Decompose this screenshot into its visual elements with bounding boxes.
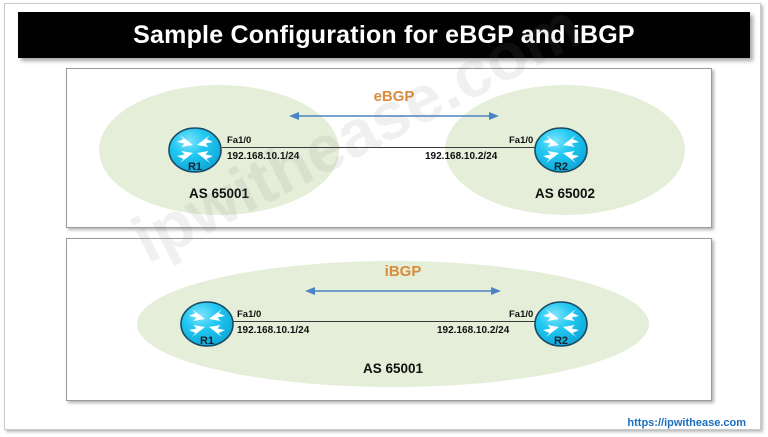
interface-label-right-ebgp: Fa1/0 bbox=[509, 135, 533, 146]
interface-label-right-ibgp: Fa1/0 bbox=[509, 309, 533, 320]
ibgp-protocol-label: iBGP bbox=[305, 263, 501, 280]
ip-label-right-ebgp: 192.168.10.2/24 bbox=[425, 151, 497, 162]
link-line-ebgp bbox=[222, 147, 562, 148]
router-icon[interactable]: R2 bbox=[533, 300, 589, 348]
ibgp-panel: iBGP R1 bbox=[66, 238, 712, 401]
ip-label-left-ebgp: 192.168.10.1/24 bbox=[227, 151, 299, 162]
interface-label-left-ibgp: Fa1/0 bbox=[237, 309, 261, 320]
router-icon[interactable]: R1 bbox=[167, 126, 223, 174]
ebgp-protocol-label: eBGP bbox=[289, 88, 499, 105]
ebgp-panel: eBGP R1 bbox=[66, 68, 712, 228]
bidirectional-arrow-icon bbox=[289, 109, 499, 123]
title-bar: Sample Configuration for eBGP and iBGP bbox=[18, 12, 750, 58]
router-icon[interactable]: R1 bbox=[179, 300, 235, 348]
bidirectional-arrow-icon bbox=[305, 284, 501, 298]
as-name-ibgp: AS 65001 bbox=[303, 361, 483, 376]
page-title: Sample Configuration for eBGP and iBGP bbox=[133, 21, 635, 50]
interface-label-left-ebgp: Fa1/0 bbox=[227, 135, 251, 146]
router-icon[interactable]: R2 bbox=[533, 126, 589, 174]
as-name-left-ebgp: AS 65001 bbox=[129, 186, 309, 201]
footer-site-link[interactable]: https://ipwithease.com bbox=[627, 417, 746, 429]
ip-label-left-ibgp: 192.168.10.1/24 bbox=[237, 325, 309, 336]
as-name-right-ebgp: AS 65002 bbox=[475, 186, 655, 201]
diagram-canvas: Sample Configuration for eBGP and iBGP i… bbox=[0, 0, 768, 437]
link-line-ibgp bbox=[232, 321, 562, 322]
ip-label-right-ibgp: 192.168.10.2/24 bbox=[437, 325, 509, 336]
